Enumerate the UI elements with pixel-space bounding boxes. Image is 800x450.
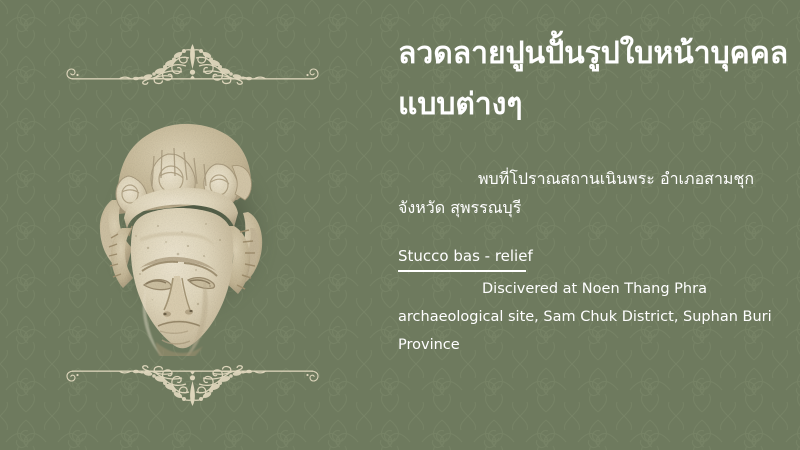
artifact-image [70,108,300,356]
english-heading: Stucco bas - relief [398,245,533,267]
ornament-divider-top [60,38,325,94]
subtitle-thai-line-2: จังหวัด สุพรรณบุรี [398,193,521,222]
page-title-line-1: ลวดลายปูนปั้นรูปใบหน้าบุคคล [398,28,788,79]
english-body-line-1: Discivered at Noen Thang Phra [482,275,707,303]
stucco-head-illustration [70,108,300,356]
english-body-line-3: Province [398,331,460,359]
english-body-line-2: archaeological site, Sam Chuk District, … [398,303,772,331]
ornament-divider-bottom [60,356,325,412]
subtitle-thai-line-1: พบที่โปราณสถานเนินพระ อำเภอสามชุก [478,164,754,193]
english-heading-underline [398,270,526,272]
page-title-line-2: แบบต่างๆ [398,79,523,130]
presentation-slide: ลวดลายปูนปั้นรูปใบหน้าบุคคล แบบต่างๆ พบท… [0,0,800,450]
text-column: ลวดลายปูนปั้นรูปใบหน้าบุคคล แบบต่างๆ พบท… [396,0,788,450]
